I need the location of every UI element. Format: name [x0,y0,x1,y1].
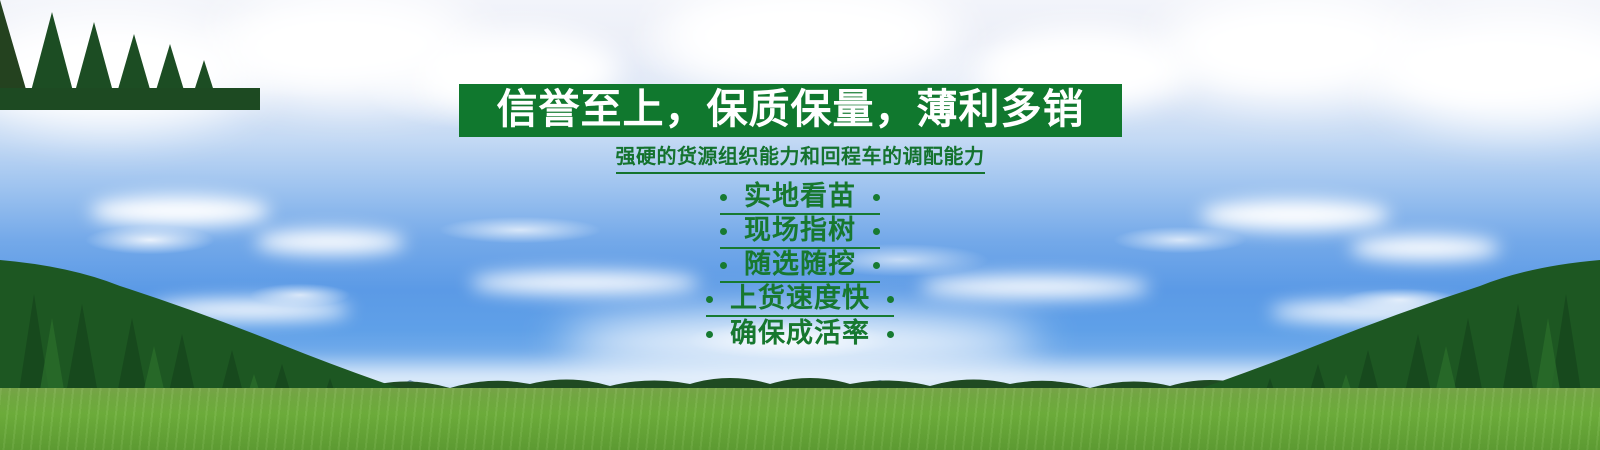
bullet-dot-icon [720,262,727,269]
feature-row: 现场指树 [720,215,880,249]
field-furrows [0,388,1600,450]
bullet-dot-icon [873,262,880,269]
grass-field [0,388,1600,450]
feature-label: 确保成活率 [730,320,870,347]
bullet-dot-icon [706,296,713,303]
bullet-dot-icon [720,194,727,201]
feature-row: 实地看苗 [720,181,880,215]
subtitle: 强硬的货源组织能力和回程车的调配能力 [0,145,1600,174]
headline-text: 信誉至上，保质保量，薄利多销 [497,89,1085,130]
feature-row: 随选随挖 [720,249,880,283]
bullet-dot-icon [873,194,880,201]
feature-row: 确保成活率 [706,317,894,351]
bullet-dot-icon [887,296,894,303]
center-tree-cluster [0,0,260,110]
bullet-dot-icon [873,228,880,235]
feature-label: 实地看苗 [744,183,856,210]
bullet-dot-icon [887,331,894,338]
feature-row: 上货速度快 [706,283,894,317]
promo-banner: 信誉至上，保质保量，薄利多销 强硬的货源组织能力和回程车的调配能力 实地看苗 现… [0,0,1600,450]
feature-list: 实地看苗 现场指树 随选随挖 上货速度快 确保成活率 [0,181,1600,351]
headline-bar: 信誉至上，保质保量，薄利多销 [459,84,1122,137]
feature-label: 现场指树 [744,217,856,244]
feature-label: 上货速度快 [730,285,870,312]
bullet-dot-icon [720,228,727,235]
bullet-dot-icon [706,331,713,338]
feature-label: 随选随挖 [744,251,856,278]
subtitle-text: 强硬的货源组织能力和回程车的调配能力 [616,145,985,174]
